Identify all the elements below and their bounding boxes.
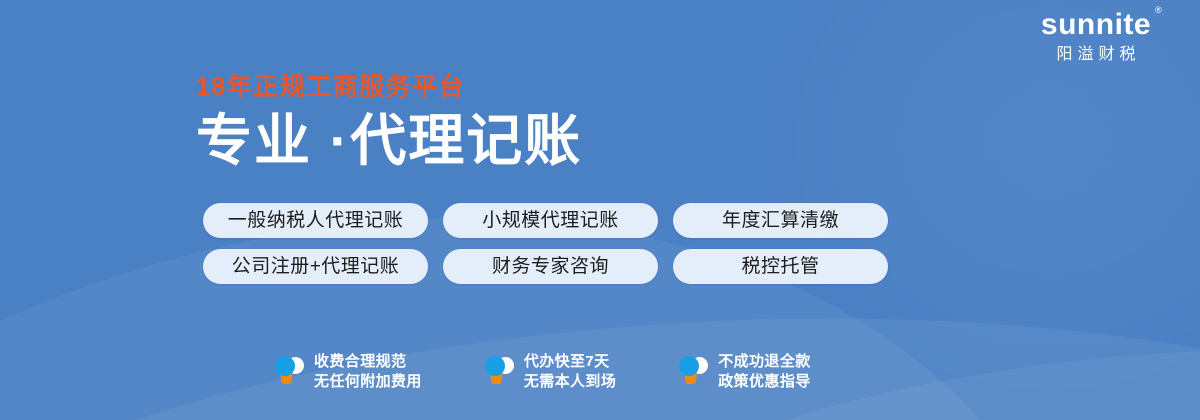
service-pill[interactable]: 一般纳税人代理记账 <box>203 203 428 238</box>
bulb-badge-icon-circle <box>275 356 295 376</box>
feature-line-2: 无任何附加费用 <box>314 372 422 392</box>
feature-line-2: 无需本人到场 <box>524 372 616 392</box>
service-pill[interactable]: 财务专家咨询 <box>443 249 658 284</box>
feature-text: 代办快至7天 无需本人到场 <box>524 352 616 392</box>
bulb-badge-icon <box>678 355 708 389</box>
bulb-badge-icon <box>274 355 304 389</box>
registered-trademark-icon: ® <box>1155 6 1162 15</box>
feature-line-1: 不成功退全款 <box>718 353 810 370</box>
service-pill[interactable]: 税控托管 <box>673 249 888 284</box>
feature-line-1: 收费合理规范 <box>314 353 406 370</box>
feature-line-2: 政策优惠指导 <box>718 372 810 392</box>
bulb-badge-icon-circle <box>485 356 505 376</box>
logo-wordmark: sunnite ® <box>1041 8 1151 42</box>
headline-block: 18年正规工商服务平台 专业 ·代理记账 <box>196 72 582 174</box>
logo-chinese-name: 阳溢财税 <box>1016 45 1176 65</box>
headline-eyebrow: 18年正规工商服务平台 <box>196 72 582 102</box>
feature-item: 收费合理规范 无任何附加费用 <box>274 352 422 392</box>
brand-logo[interactable]: sunnite ® 阳溢财税 <box>1016 8 1176 65</box>
service-pill[interactable]: 年度汇算清缴 <box>673 203 888 238</box>
page-title: 专业 ·代理记账 <box>196 108 582 174</box>
feature-item: 代办快至7天 无需本人到场 <box>484 352 616 392</box>
feature-text: 不成功退全款 政策优惠指导 <box>718 352 810 392</box>
feature-line-1: 代办快至7天 <box>524 353 610 370</box>
service-pill[interactable]: 公司注册+代理记账 <box>203 249 428 284</box>
promo-banner: sunnite ® 阳溢财税 18年正规工商服务平台 专业 ·代理记账 一般纳税… <box>0 0 1200 420</box>
service-pill-grid: 一般纳税人代理记账 小规模代理记账 年度汇算清缴 公司注册+代理记账 财务专家咨… <box>203 203 888 284</box>
feature-strip: 收费合理规范 无任何附加费用 代办快至7天 无需本人到场 不成功退全款 <box>274 352 811 392</box>
feature-item: 不成功退全款 政策优惠指导 <box>678 352 810 392</box>
feature-text: 收费合理规范 无任何附加费用 <box>314 352 422 392</box>
service-pill[interactable]: 小规模代理记账 <box>443 203 658 238</box>
bulb-badge-icon <box>484 355 514 389</box>
logo-wordmark-text: sunnite <box>1041 8 1151 41</box>
